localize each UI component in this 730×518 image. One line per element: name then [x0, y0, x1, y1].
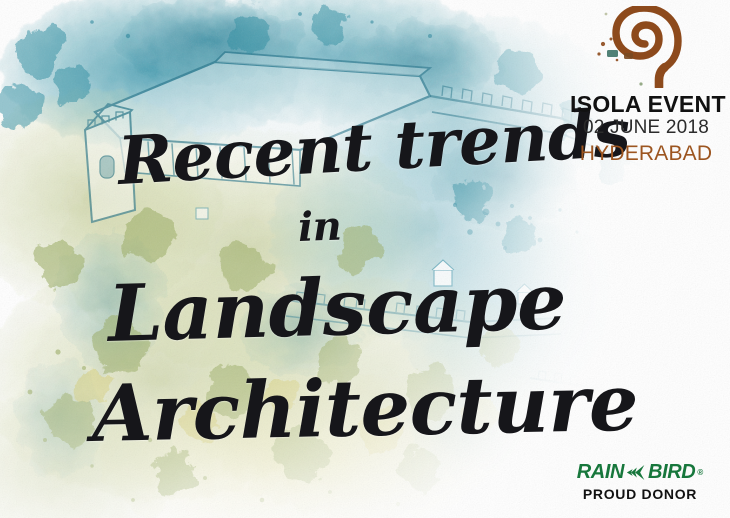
event-poster: Recent trends in Landscape Architecture [0, 0, 730, 518]
isola-event-name: ISOLA EVENT [570, 92, 722, 116]
rain-bird-logo: RAIN BIRD ® [560, 462, 720, 482]
rain-bird-swift-icon [626, 465, 646, 480]
sponsor-block: RAIN BIRD ® PROUD DONOR [560, 462, 720, 502]
sponsor-tagline: PROUD DONOR [560, 486, 720, 502]
rain-bird-word-bird: BIRD [648, 462, 695, 482]
isola-event-date: 02 JUNE 2018 [570, 117, 722, 140]
isola-spiral-icon [583, 6, 709, 88]
isola-event-city: HYDERABAD [570, 141, 722, 166]
rain-bird-word-rain: RAIN [577, 462, 624, 482]
isola-event-logo-block: ISOLA EVENT 02 JUNE 2018 HYDERABAD [570, 6, 722, 166]
registered-trademark-icon: ® [697, 468, 703, 477]
